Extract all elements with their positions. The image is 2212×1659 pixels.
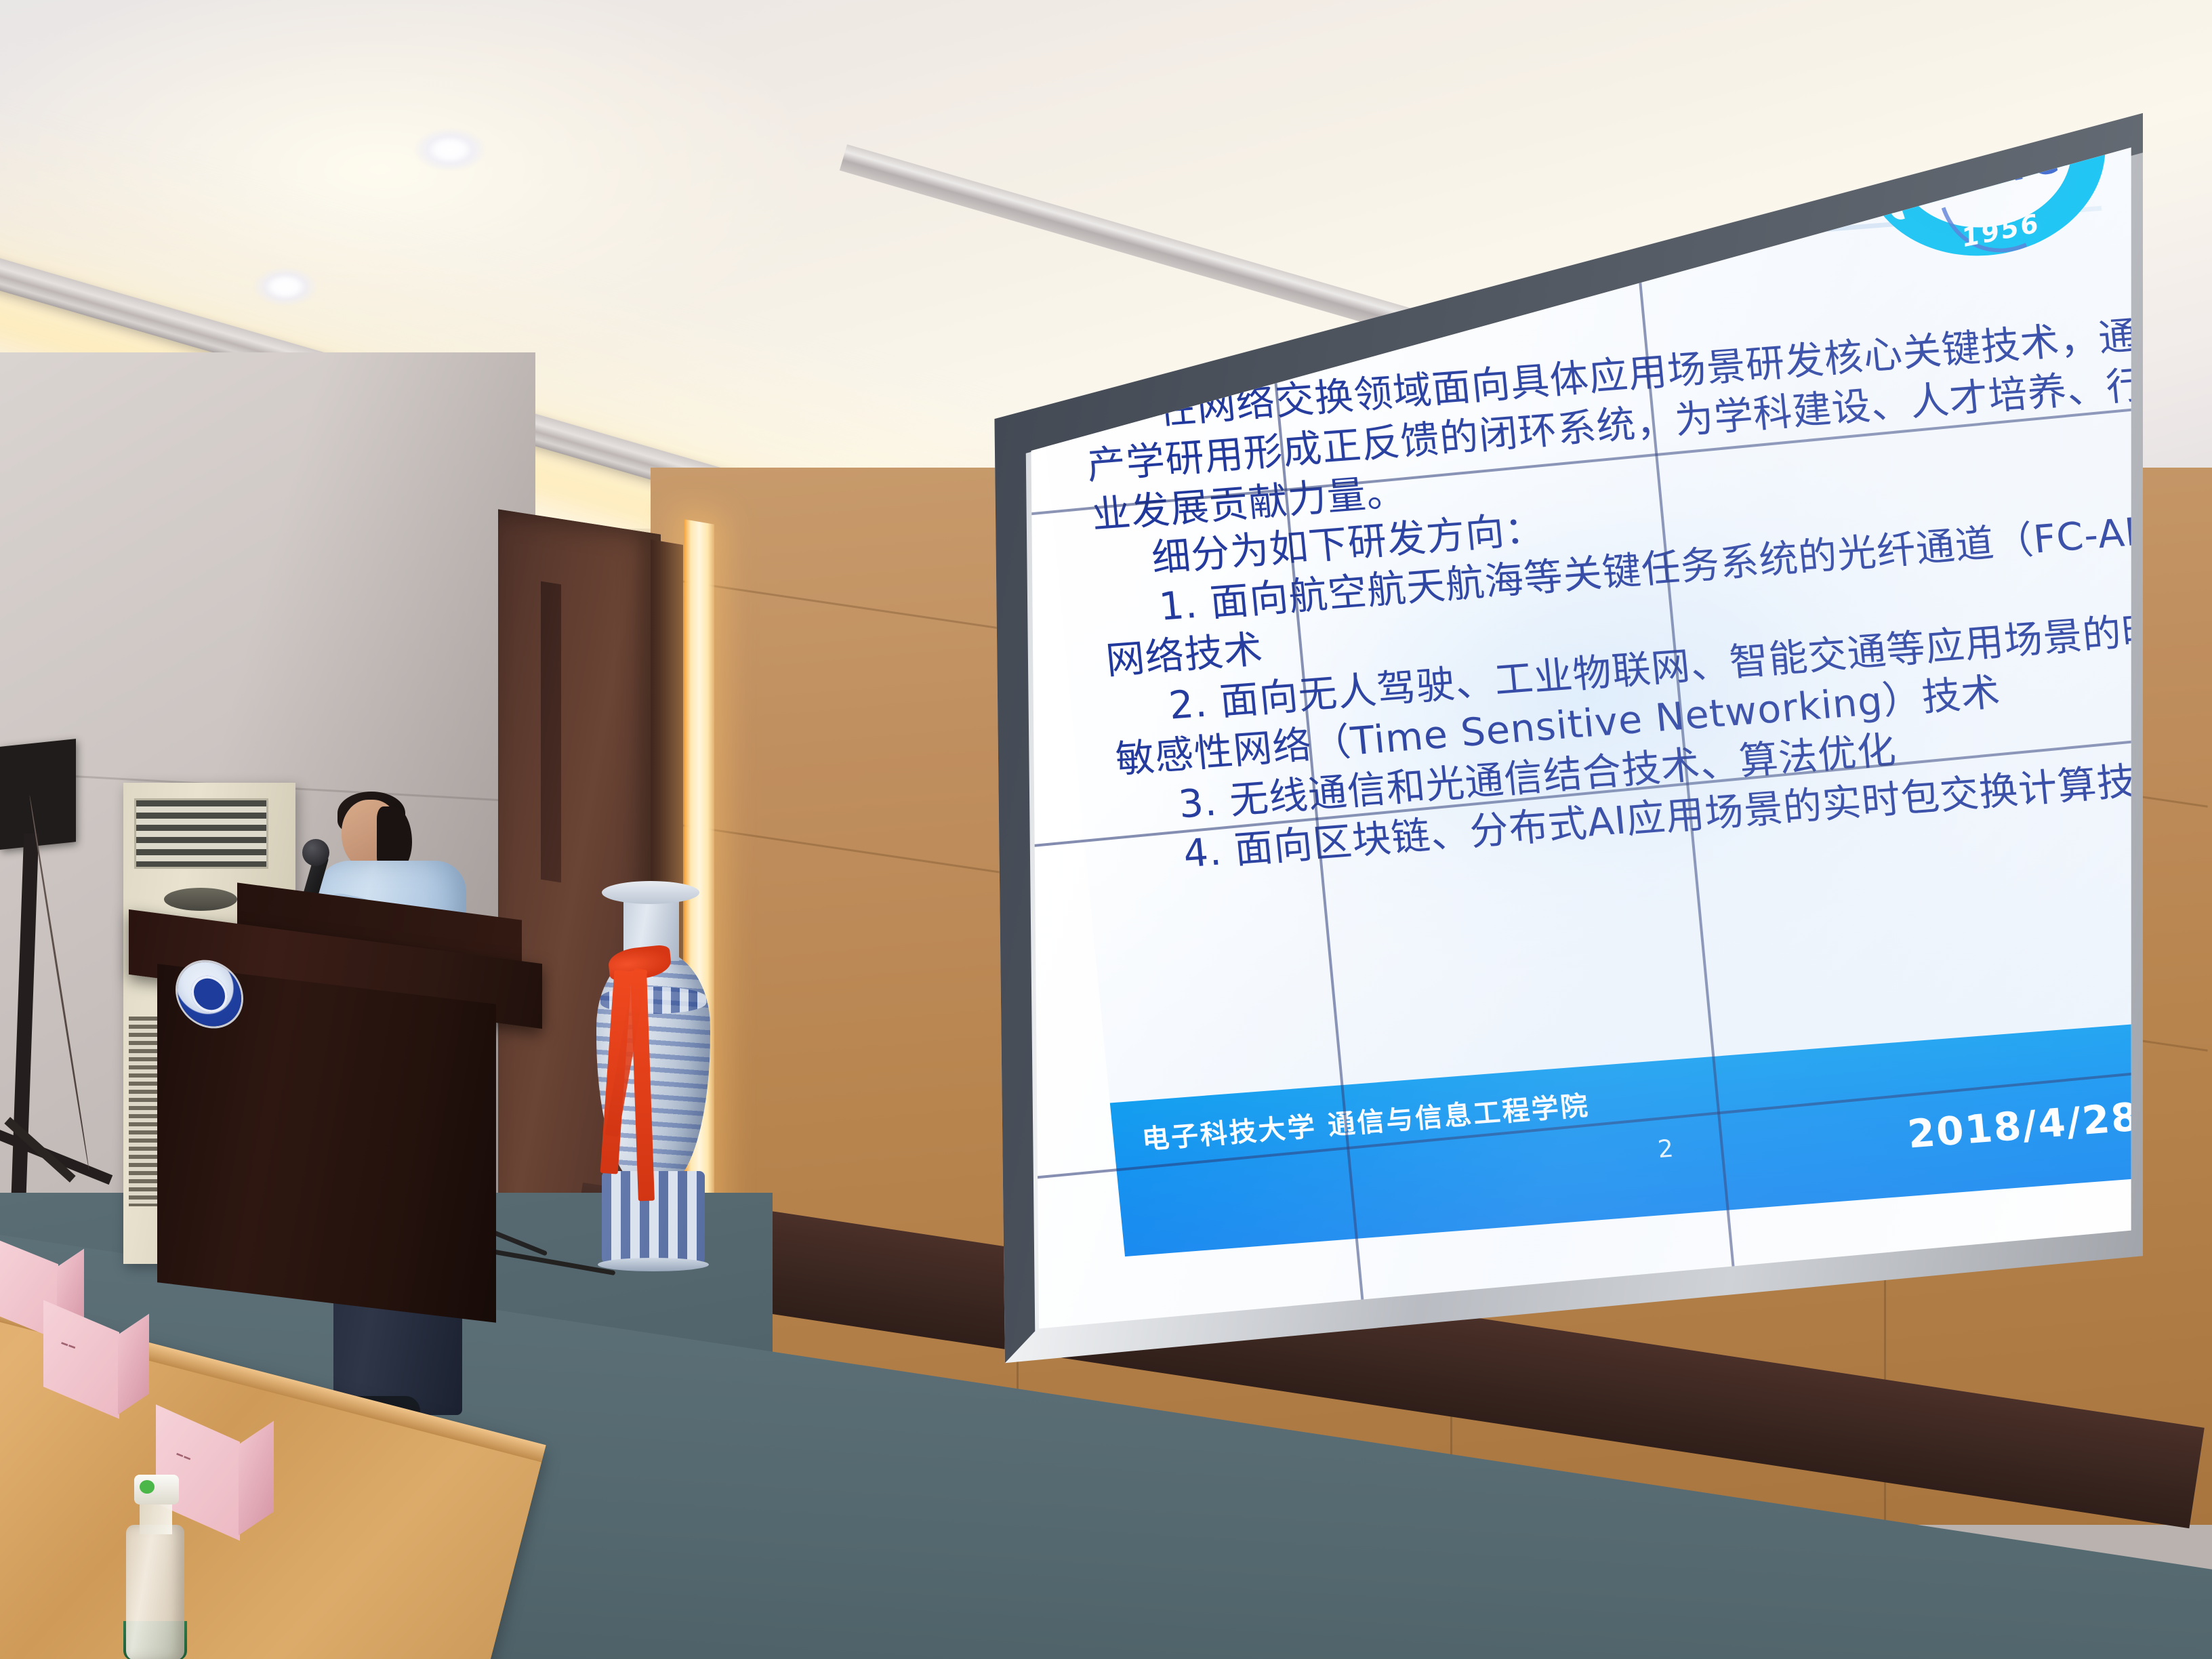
slide-footer-bar: 电子科技大学 通信与信息工程学院 2 2018/4/28 xyxy=(1110,1013,2143,1256)
ac-control-panel[interactable] xyxy=(164,888,237,911)
ac-vent-grille xyxy=(134,798,268,869)
ceiling-downlight-1 xyxy=(415,129,485,171)
name-card: ━━ xyxy=(43,1316,179,1411)
name-card: ━━ xyxy=(156,1423,312,1532)
vase-mouth xyxy=(602,881,699,904)
conference-room-photo: 团队交流 ➞ 团队定位 在网络交换领域面向具体应用场景研发核心关键技术，通过产学… xyxy=(0,0,2212,1659)
dove-icon xyxy=(1904,102,1927,109)
arrow-right-circle-icon: ➞ xyxy=(1103,328,1149,373)
slide-title: 团队交流 xyxy=(1094,193,1311,279)
slide-date: 2018/4/28 xyxy=(1906,1094,2142,1157)
ceiling-downlight-2 xyxy=(254,268,316,306)
vase-foot-rim xyxy=(598,1258,709,1271)
microphone-head-icon xyxy=(302,839,329,866)
dove-icon xyxy=(1892,144,1906,168)
bottle-cap-dot xyxy=(140,1480,155,1494)
wood-column-inset xyxy=(541,581,561,883)
video-wall-display[interactable]: 团队交流 ➞ 团队定位 在网络交换领域面向具体应用场景研发核心关键技术，通过产学… xyxy=(835,102,2143,1376)
water-bottle xyxy=(126,1525,184,1659)
slide-page-number: 2 xyxy=(1656,1135,1675,1164)
